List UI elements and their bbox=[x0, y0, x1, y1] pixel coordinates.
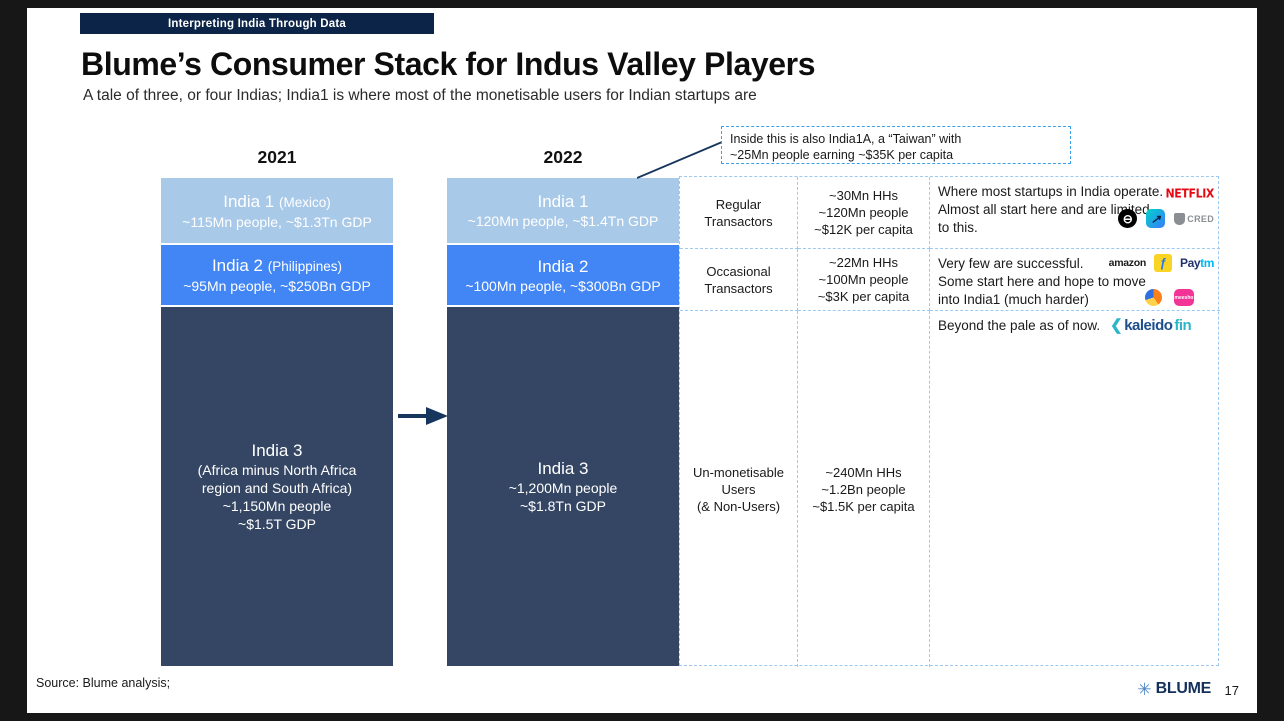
table-row-0-description: Where most startups in India operate. Al… bbox=[930, 177, 1220, 249]
blume-wordmark: BLUME bbox=[1156, 680, 1211, 698]
page-title: Blume’s Consumer Stack for Indus Valley … bbox=[81, 46, 815, 83]
bar-2022-india2-title: India 2 bbox=[537, 256, 588, 277]
bar-2022-india3-title: India 3 bbox=[537, 458, 588, 479]
stacked-bar-2022: India 1 ~120Mn people, ~$1.4Tn GDP India… bbox=[447, 178, 679, 666]
uber-logo: ⊖ bbox=[1118, 209, 1137, 228]
logo-group-row-1-bottom: meesho bbox=[1145, 289, 1194, 306]
callout-india1a: Inside this is also India1A, a “Taiwan” … bbox=[721, 126, 1071, 164]
paytm-logo: Paytm bbox=[1180, 254, 1214, 272]
logo-group-row-1-top: amazon ƒ Paytm bbox=[1109, 254, 1214, 272]
blume-star-icon: ✳ bbox=[1137, 681, 1151, 698]
page-subtitle: A tale of three, or four Indias; India1 … bbox=[83, 87, 757, 105]
stacked-bar-2021: India 1 (Mexico) ~115Mn people, ~$1.3Tn … bbox=[161, 178, 393, 666]
bar-2022-india1-title: India 1 bbox=[537, 191, 588, 212]
bar-2022-band-india2: India 2 ~100Mn people, ~$300Bn GDP bbox=[447, 245, 679, 305]
shield-icon bbox=[1174, 213, 1185, 225]
blume-logo: ✳ BLUME bbox=[1137, 680, 1211, 698]
netflix-logo: NETFLIX bbox=[1165, 184, 1214, 205]
source-note: Source: Blume analysis; bbox=[36, 676, 170, 690]
bar-2022-band-india3: India 3 ~1,200Mn people ~$1.8Tn GDP bbox=[447, 307, 679, 666]
table-row-2-description: Beyond the pale as of now. ❮kaleidofin bbox=[930, 311, 1220, 667]
transition-arrow-icon bbox=[398, 406, 448, 426]
table-row-2-category: Un-monetisable Users (& Non-Users) bbox=[680, 311, 798, 667]
segments-table: Regular Transactors ~30Mn HHs ~120Mn peo… bbox=[679, 176, 1219, 666]
table-row-1-metrics: ~22Mn HHs ~100Mn people ~$3K per capita bbox=[798, 249, 930, 311]
bar-2021-band-india3: India 3 (Africa minus North Africa regio… bbox=[161, 307, 393, 666]
flipkart-logo: ƒ bbox=[1154, 254, 1172, 272]
meesho-logo: meesho bbox=[1174, 289, 1194, 306]
bar-2022-band-india1: India 1 ~120Mn people, ~$1.4Tn GDP bbox=[447, 178, 679, 243]
groww-logo: ↗ bbox=[1146, 209, 1165, 228]
cred-logo: CRED bbox=[1174, 210, 1214, 228]
bar-2021-india2-title: India 2 (Philippines) bbox=[212, 255, 342, 277]
slide-eyebrow-banner: Interpreting India Through Data bbox=[80, 13, 434, 34]
bar-2021-band-india1: India 1 (Mexico) ~115Mn people, ~$1.3Tn … bbox=[161, 178, 393, 243]
swiggy-logo bbox=[1145, 289, 1162, 306]
table-row-0-category: Regular Transactors bbox=[680, 177, 798, 249]
table-row-1-description: Very few are successful. Some start here… bbox=[930, 249, 1220, 311]
bar-2022-india3-line-1: ~$1.8Tn GDP bbox=[520, 497, 606, 515]
logo-group-row-0-top: NETFLIX bbox=[1165, 185, 1214, 203]
bar-2021-india3-line-0: (Africa minus North Africa bbox=[198, 461, 357, 479]
bar-2022-india3-line-0: ~1,200Mn people bbox=[509, 479, 618, 497]
page-number: 17 bbox=[1225, 683, 1239, 698]
bar-2021-india3-line-2: ~1,150Mn people bbox=[223, 497, 332, 515]
table-row-0-metrics: ~30Mn HHs ~120Mn people ~$12K per capita bbox=[798, 177, 930, 249]
logo-group-row-0-bottom: ⊖ ↗ CRED bbox=[1118, 209, 1214, 228]
kaleidofin-logo: ❮kaleidofin bbox=[1110, 317, 1191, 335]
bar-2021-india3-title: India 3 bbox=[251, 440, 302, 461]
table-row-2-metrics: ~240Mn HHs ~1.2Bn people ~$1.5K per capi… bbox=[798, 311, 930, 667]
bar-2021-india2-sub: ~95Mn people, ~$250Bn GDP bbox=[183, 277, 371, 295]
column-year-2021: 2021 bbox=[161, 147, 393, 168]
bar-2022-india2-sub: ~100Mn people, ~$300Bn GDP bbox=[465, 277, 660, 295]
bar-2021-india1-title: India 1 (Mexico) bbox=[223, 191, 331, 213]
callout-line-2: ~25Mn people earning ~$35K per capita bbox=[730, 147, 1062, 163]
callout-line-1: Inside this is also India1A, a “Taiwan” … bbox=[730, 131, 1062, 147]
table-row-1-category: Occasional Transactors bbox=[680, 249, 798, 311]
bar-2021-india3-line-3: ~$1.5T GDP bbox=[238, 515, 316, 533]
bar-2021-band-india2: India 2 (Philippines) ~95Mn people, ~$25… bbox=[161, 245, 393, 305]
bar-2021-india1-sub: ~115Mn people, ~$1.3Tn GDP bbox=[182, 213, 372, 231]
slide-canvas: Interpreting India Through Data Blume’s … bbox=[27, 8, 1257, 713]
amazon-logo: amazon bbox=[1109, 254, 1146, 272]
bar-2021-india3-line-1: region and South Africa) bbox=[202, 479, 352, 497]
bar-2022-india1-sub: ~120Mn people, ~$1.4Tn GDP bbox=[468, 212, 659, 230]
banner-label: Interpreting India Through Data bbox=[168, 18, 346, 30]
